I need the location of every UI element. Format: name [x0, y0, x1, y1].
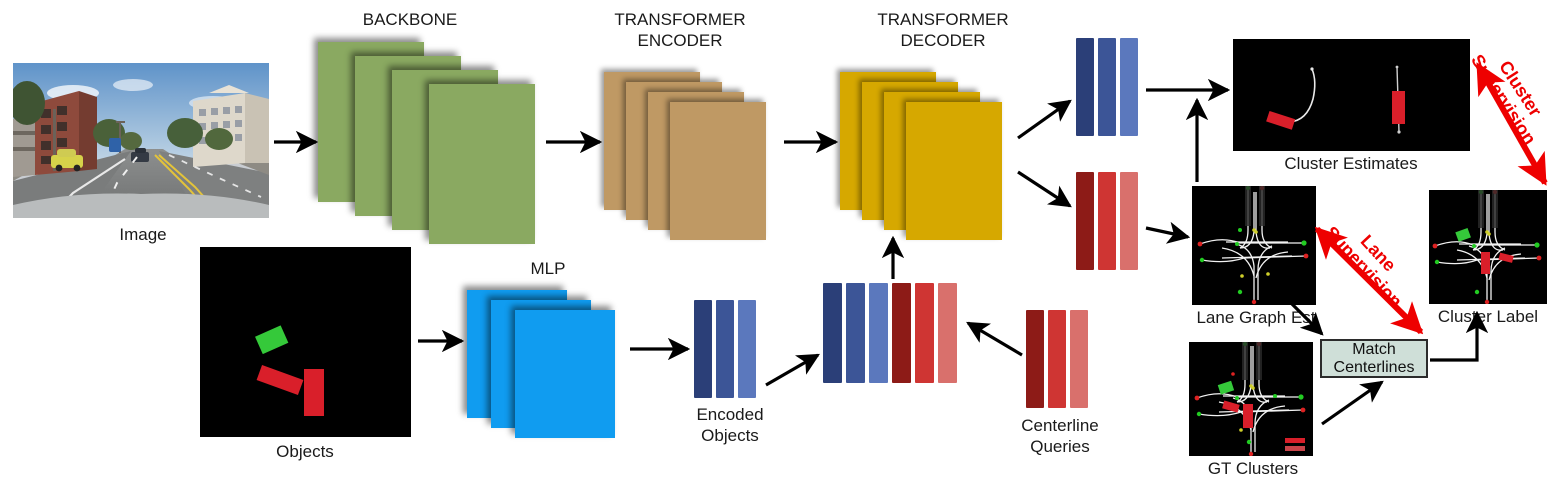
decoder-stack	[840, 72, 1050, 232]
decoder-out-blue-bar-3	[1120, 38, 1138, 136]
gt-clusters-illustration	[1189, 342, 1313, 456]
caption-encoded-objects: Encoded Objects	[655, 404, 805, 446]
gt-clusters-panel	[1189, 342, 1313, 456]
stage-label-encoder: TRANSFORMER ENCODER	[585, 9, 775, 51]
encoded-objects-bars	[694, 300, 762, 398]
decoder-out-blue-bar-1	[1076, 38, 1094, 136]
decoder-output-blue-bars	[1076, 38, 1138, 136]
cluster-supervision-label: Cluster Supervision	[1463, 33, 1555, 155]
mlp-stack	[467, 290, 657, 440]
centerline-query-bar-2	[1048, 310, 1066, 408]
lane-supervision-label: Lane Supervision	[1315, 202, 1426, 317]
decoder-out-red-bar-3	[1120, 172, 1138, 270]
decoder-out-red-bar-2	[1098, 172, 1116, 270]
backbone-stack	[318, 42, 558, 232]
caption-gt-clusters: GT Clusters	[1178, 458, 1328, 479]
fused-bar-blue-2	[846, 283, 865, 383]
fused-query-bars	[823, 283, 963, 383]
cluster-label-illustration	[1429, 190, 1547, 304]
encoded-objects-bar-2	[716, 300, 734, 398]
arrow-lane-feats-to-lane-graph	[1146, 228, 1188, 237]
centerline-query-bar-3	[1070, 310, 1088, 408]
cluster-estimates-illustration	[1233, 39, 1470, 151]
decoder-out-red-bar-1	[1076, 172, 1094, 270]
caption-objects: Objects	[215, 441, 395, 462]
lane-graph-est-panel	[1192, 186, 1316, 305]
caption-image: Image	[53, 224, 233, 245]
arrow-encoded-objects-to-queries	[766, 355, 818, 385]
fused-bar-red-2	[915, 283, 934, 383]
stage-label-mlp: MLP	[498, 258, 598, 279]
caption-cluster-estimates: Cluster Estimates	[1241, 153, 1461, 174]
encoder-slab-4	[670, 102, 766, 240]
fused-bar-blue-1	[823, 283, 842, 383]
fused-bar-red-1	[892, 283, 911, 383]
input-image-panel	[13, 63, 269, 218]
decoder-output-red-bars	[1076, 172, 1138, 270]
caption-centerline-queries: Centerline Queries	[985, 415, 1135, 457]
mlp-slab-3	[515, 310, 615, 438]
stage-label-backbone: BACKBONE	[320, 9, 500, 30]
street-scene-illustration	[13, 63, 269, 218]
centerline-query-bar-1	[1026, 310, 1044, 408]
encoder-stack	[604, 72, 814, 232]
cluster-estimates-panel	[1233, 39, 1470, 151]
fused-bar-blue-3	[869, 283, 888, 383]
decoder-slab-4	[906, 102, 1002, 240]
fused-bar-red-3	[938, 283, 957, 383]
encoded-objects-bar-1	[694, 300, 712, 398]
caption-lane-graph-est: Lane Graph Est	[1176, 307, 1336, 328]
caption-cluster-label: Cluster Label	[1418, 306, 1555, 327]
lane-graph-est-illustration	[1192, 186, 1316, 305]
arrow-gt-clusters-to-match	[1322, 382, 1382, 424]
backbone-slab-4	[429, 84, 535, 244]
architecture-diagram: Image Objects BACKBONE TRANSFORMER ENCOD…	[0, 0, 1555, 478]
cluster-label-panel	[1429, 190, 1547, 304]
encoded-objects-bar-3	[738, 300, 756, 398]
objects-panel	[200, 247, 411, 437]
centerline-queries-bars	[1026, 310, 1088, 408]
decoder-out-blue-bar-2	[1098, 38, 1116, 136]
stage-label-decoder: TRANSFORMER DECODER	[848, 9, 1038, 51]
arrow-centerline-queries-to-fused	[968, 323, 1022, 355]
objects-bev-illustration	[200, 247, 411, 437]
match-centerlines-box[interactable]: Match Centerlines	[1320, 339, 1428, 378]
